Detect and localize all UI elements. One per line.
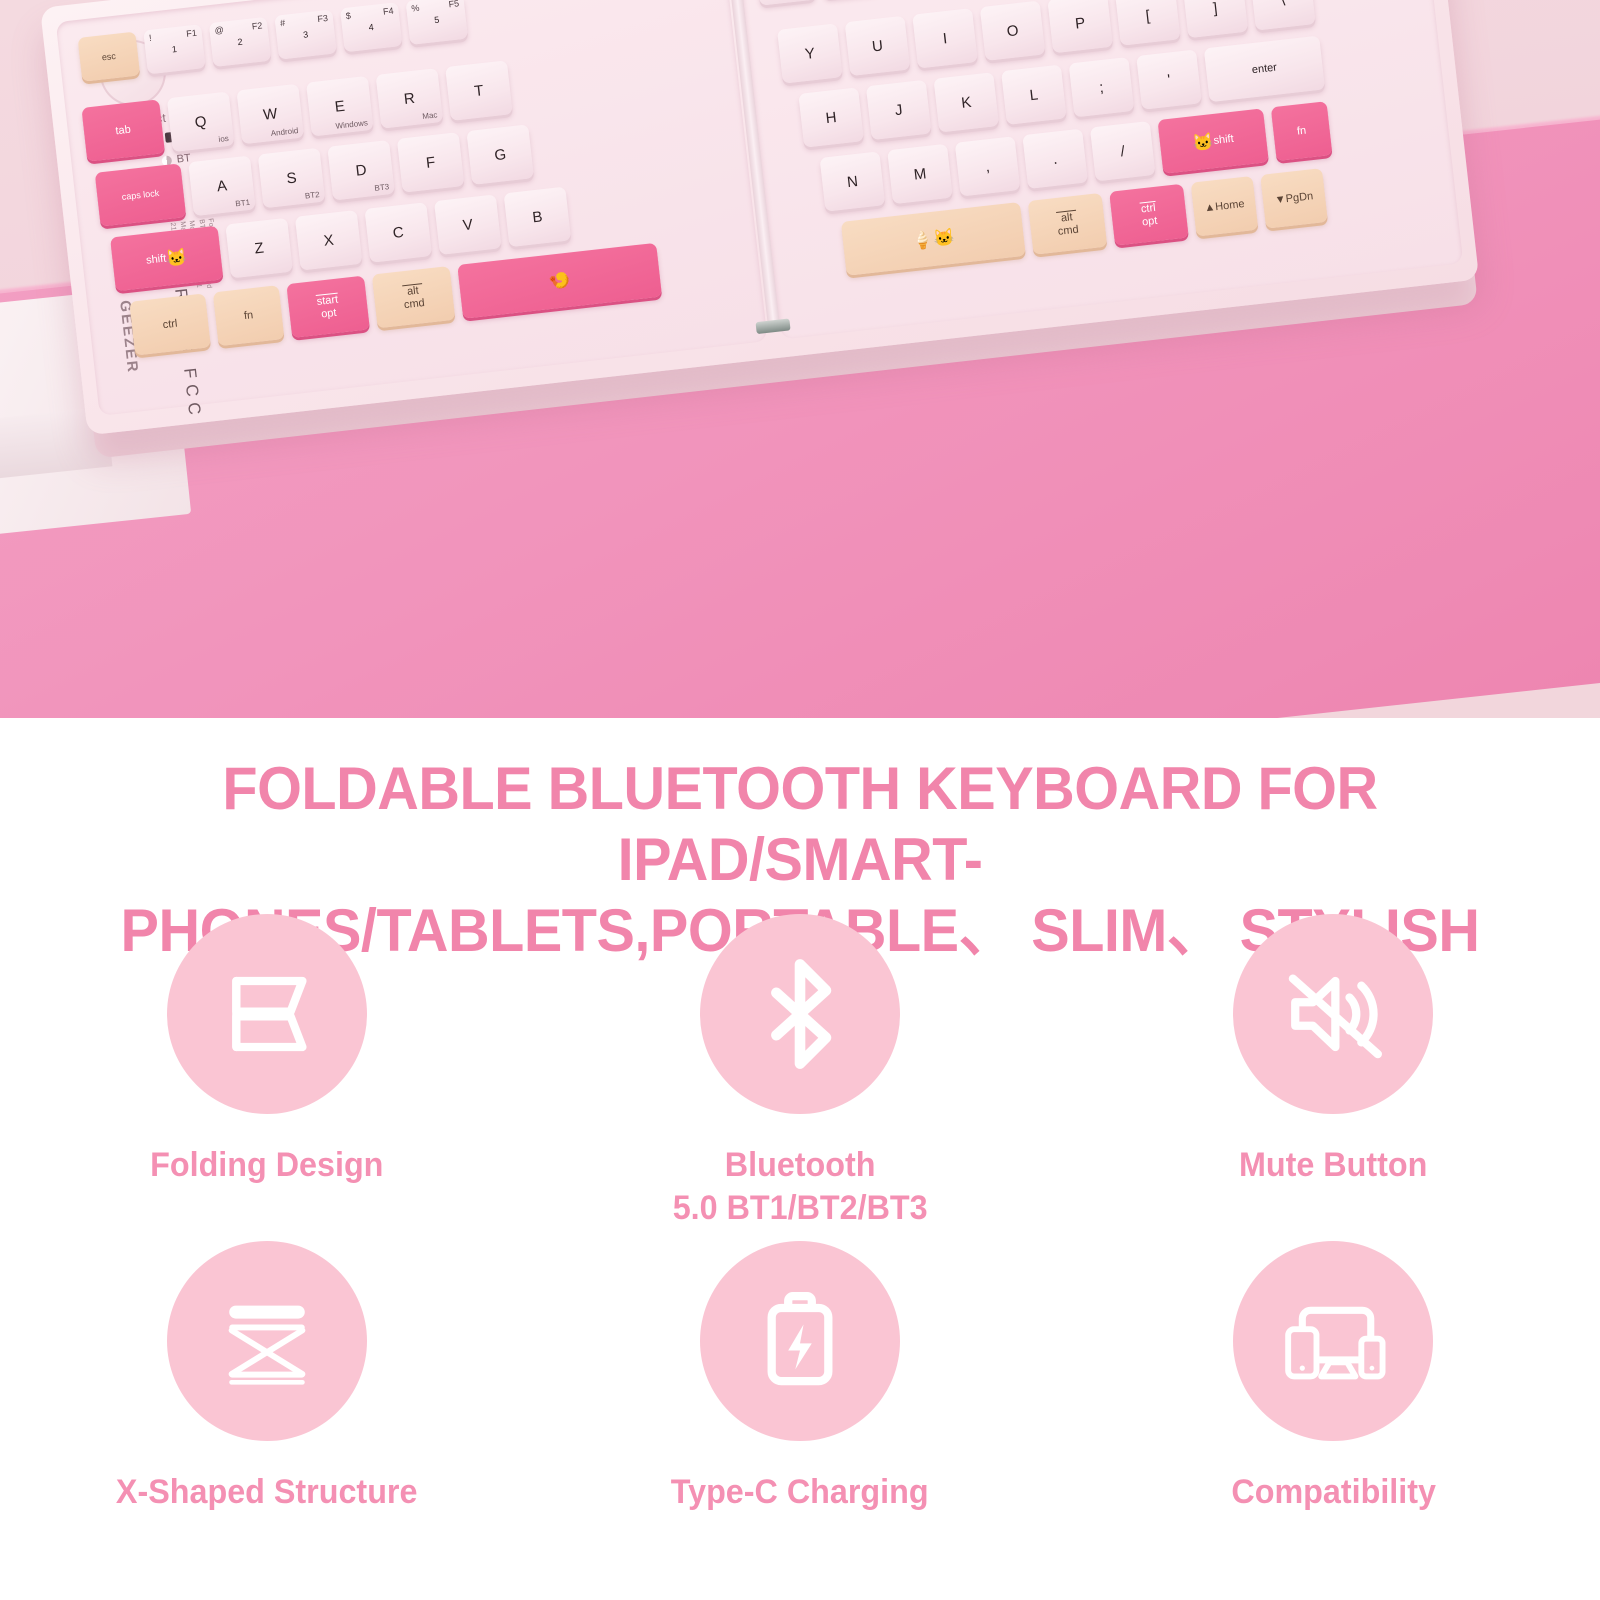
cat-sticker-icon: 🐱 <box>165 248 188 267</box>
key-caps-lock[interactable]: caps lock <box>95 163 186 226</box>
food-sticker-icon: 🍦 <box>911 230 934 249</box>
key-h[interactable]: H <box>798 87 864 147</box>
feature-mute-button: Mute Button <box>1067 914 1600 1229</box>
key-bracket-right[interactable]: ] <box>1183 0 1249 38</box>
key-esc[interactable]: esc <box>78 32 141 82</box>
key-quote[interactable]: ' <box>1136 49 1202 109</box>
key-t[interactable]: T <box>445 60 513 121</box>
feature-x-structure: X-Shaped Structure <box>0 1241 533 1514</box>
key-i[interactable]: I <box>912 8 978 68</box>
key-s[interactable]: SBT2 <box>258 148 326 209</box>
marketing-content: FOLDABLE BLUETOOTH KEYBOARD FOR IPAD/SMA… <box>0 718 1600 1600</box>
key-u[interactable]: U <box>845 16 911 76</box>
feature-label: Bluetooth 5.0 BT1/BT2/BT3 <box>673 1144 928 1229</box>
key-w[interactable]: WAndroid <box>236 84 304 145</box>
feature-folding-design: Folding Design <box>0 914 533 1229</box>
feature-compatibility: Compatibility <box>1067 1241 1600 1514</box>
x-structure-icon <box>208 1282 326 1400</box>
battery-charging-icon <box>741 1282 859 1400</box>
key-fn-right[interactable]: fn <box>1271 101 1333 161</box>
key-e[interactable]: EWindows <box>306 76 374 137</box>
key-5[interactable]: %F55 <box>406 0 469 45</box>
key-slash[interactable]: / <box>1090 121 1156 181</box>
icon-circle <box>1233 1241 1433 1441</box>
mute-speaker-icon <box>1274 955 1392 1073</box>
key-2[interactable]: @F22 <box>209 17 272 67</box>
headline-line-1: FOLDABLE BLUETOOTH KEYBOARD FOR IPAD/SMA… <box>80 754 1520 896</box>
key-3[interactable]: #F33 <box>274 9 337 59</box>
key-x[interactable]: X <box>295 210 363 271</box>
key-period[interactable]: . <box>1022 129 1088 189</box>
key-alt-cmd-left[interactable]: altcmd <box>372 266 456 328</box>
feature-label: Folding Design <box>150 1144 383 1187</box>
feature-label-line-2: 5.0 BT1/BT2/BT3 <box>673 1189 928 1227</box>
feature-bluetooth: Bluetooth 5.0 BT1/BT2/BT3 <box>533 914 1066 1229</box>
key-ctrl-opt[interactable]: ctrlopt <box>1109 184 1189 246</box>
key-home[interactable]: ▲Home <box>1191 176 1259 237</box>
key-p[interactable]: P <box>1047 0 1113 53</box>
product-photo: connect BT GEEZER CE RoHS FCC Folding Ke… <box>0 0 1600 718</box>
feature-label: Type-C Charging <box>671 1471 929 1514</box>
key-m[interactable]: M <box>887 144 953 204</box>
key-z[interactable]: Z <box>225 218 293 279</box>
key-o[interactable]: O <box>980 1 1046 61</box>
key-g[interactable]: G <box>466 124 534 185</box>
key-pgdn[interactable]: ▼PgDn <box>1260 168 1328 229</box>
feature-label: X-Shaped Structure <box>116 1471 418 1514</box>
key-1[interactable]: !F11 <box>143 24 206 74</box>
key-y[interactable]: Y <box>777 23 843 83</box>
feature-label-line-1: Bluetooth <box>725 1146 876 1184</box>
multi-device-icon <box>1274 1282 1392 1400</box>
key-k[interactable]: K <box>933 72 999 132</box>
key-v[interactable]: V <box>434 194 502 255</box>
key-c[interactable]: C <box>364 202 432 263</box>
cat-sticker-icon: 🐱 <box>1192 133 1215 152</box>
icon-circle <box>167 1241 367 1441</box>
key-alt-cmd-right[interactable]: altcmd <box>1028 193 1108 255</box>
key-j[interactable]: J <box>866 80 932 140</box>
feature-label: Compatibility <box>1231 1471 1436 1514</box>
key-semicolon[interactable]: ; <box>1069 57 1135 117</box>
icon-circle <box>700 914 900 1114</box>
bluetooth-icon <box>741 955 859 1073</box>
icon-circle <box>167 914 367 1114</box>
feature-label: Mute Button <box>1239 1144 1427 1187</box>
key-q[interactable]: Qios <box>167 92 235 153</box>
key-f[interactable]: F <box>397 132 465 193</box>
cat-sticker-icon: 🐱 <box>932 228 955 247</box>
key-n[interactable]: N <box>820 151 886 211</box>
food-sticker-icon: 🍤 <box>548 271 571 290</box>
key-b[interactable]: B <box>504 187 572 248</box>
icon-circle <box>1233 914 1433 1114</box>
key-start-opt[interactable]: startopt <box>286 276 370 338</box>
feature-type-c-charging: Type-C Charging <box>533 1241 1066 1514</box>
feature-grid: Folding Design Bluetooth 5.0 BT1/BT2/BT3 <box>0 914 1600 1514</box>
key-comma[interactable]: , <box>955 136 1021 196</box>
key-4[interactable]: $F44 <box>340 2 403 52</box>
key-r[interactable]: RMac <box>376 68 444 129</box>
icon-circle <box>700 1241 900 1441</box>
key-l[interactable]: L <box>1001 65 1067 125</box>
key-d[interactable]: DBT3 <box>327 140 395 201</box>
key-fn-left[interactable]: fn <box>213 285 285 346</box>
key-bracket-left[interactable]: [ <box>1115 0 1181 46</box>
key-ctrl-left[interactable]: ctrl <box>129 293 211 355</box>
folding-keyboard-icon <box>208 955 326 1073</box>
key-tab[interactable]: tab <box>81 99 165 161</box>
key-a[interactable]: ABT1 <box>188 156 256 217</box>
